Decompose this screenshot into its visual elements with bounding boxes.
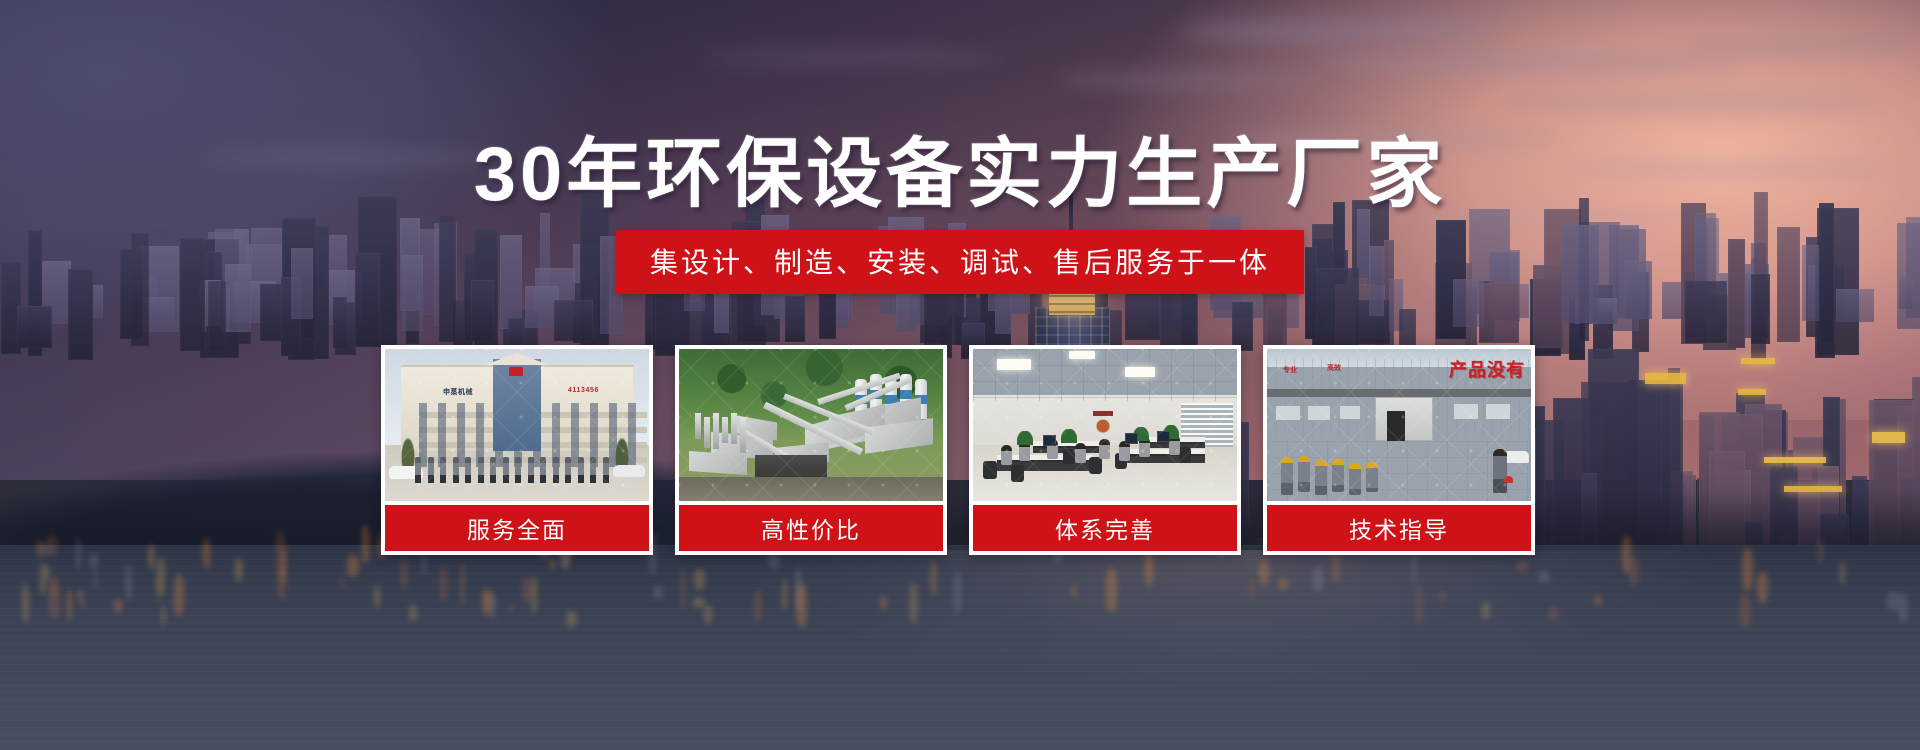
aerial-industrial-plant-photo bbox=[679, 349, 943, 501]
factory-wall-slogan-1: 专业 bbox=[1283, 367, 1297, 375]
factory-workers-briefing-photo: 专业 高效 产品没有 bbox=[1267, 349, 1531, 501]
building-sign-text: 申蒸机械 bbox=[443, 387, 473, 397]
feature-card-list: 申蒸机械 4113456 服务全面 bbox=[381, 345, 1535, 555]
feature-card[interactable]: 申蒸机械 4113456 服务全面 bbox=[381, 345, 653, 555]
feature-card-label: 服务全面 bbox=[385, 505, 649, 551]
feature-card[interactable]: 高性价比 bbox=[675, 345, 947, 555]
factory-wall-slogan-2: 高效 bbox=[1327, 365, 1341, 373]
building-phone-text: 4113456 bbox=[568, 387, 599, 394]
company-headquarters-building-photo: 申蒸机械 4113456 bbox=[385, 349, 649, 501]
office-interior-staff-photo bbox=[973, 349, 1237, 501]
feature-card-label: 高性价比 bbox=[679, 505, 943, 551]
feature-card[interactable]: 体系完善 bbox=[969, 345, 1241, 555]
feature-card-label: 技术指导 bbox=[1267, 505, 1531, 551]
hero-banner: 30年环保设备实力生产厂家 集设计、制造、安装、调试、售后服务于一体 申蒸机械 … bbox=[0, 0, 1920, 750]
factory-wall-headline: 产品没有 bbox=[1449, 361, 1525, 379]
banner-headline: 30年环保设备实力生产厂家 bbox=[0, 112, 1920, 222]
banner-subtitle: 集设计、制造、安装、调试、售后服务于一体 bbox=[616, 230, 1304, 294]
banner-content: 30年环保设备实力生产厂家 集设计、制造、安装、调试、售后服务于一体 申蒸机械 … bbox=[0, 0, 1920, 750]
feature-card-label: 体系完善 bbox=[973, 505, 1237, 551]
feature-card[interactable]: 专业 高效 产品没有 技术指导 bbox=[1263, 345, 1535, 555]
banner-subtitle-wrap: 集设计、制造、安装、调试、售后服务于一体 bbox=[0, 230, 1920, 294]
